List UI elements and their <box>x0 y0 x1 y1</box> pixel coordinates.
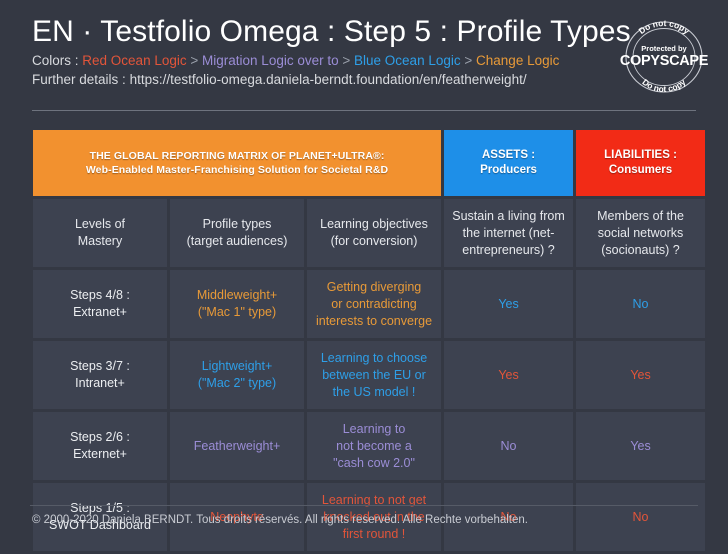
cell-profile-type: Middleweight+ ("Mac 1" type) <box>170 270 304 338</box>
page-title: EN · Testfolio Omega : Step 5 : Profile … <box>32 14 698 50</box>
cell-line3: the US model ! <box>313 384 435 401</box>
cell-line1: Featherweight+ <box>176 438 298 455</box>
banner-liabilities-cell: LIABILITIES : Consumers <box>576 130 705 196</box>
cell-profile-type: Featherweight+ <box>170 412 304 480</box>
cell-line1: Steps 3/7 : <box>39 358 161 375</box>
svg-text:Do not copy: Do not copy <box>640 77 687 94</box>
banner-liabilities-line2: Consumers <box>582 163 699 178</box>
cell-liabilities-answer: No <box>576 270 705 338</box>
copyright-notice: © 2000-2020 Daniela BERNDT. Tous droits … <box>32 514 528 526</box>
legend-separator-2: > <box>342 53 350 68</box>
legend-blue-ocean-logic: Blue Ocean Logic <box>354 53 461 68</box>
cell-level-of-mastery: Steps 4/8 : Extranet+ <box>33 270 167 338</box>
column-header-line3: entrepreneurs) ? <box>450 242 567 259</box>
column-header-line2: (for conversion) <box>313 233 435 250</box>
footer-divider <box>30 505 698 506</box>
cell-line2: between the EU or <box>313 367 435 384</box>
cell-profile-type: Lightweight+ ("Mac 2" type) <box>170 341 304 409</box>
seal-protected-by-text: Protected by <box>641 44 687 53</box>
seal-brand-text: COPYSCAPE <box>620 53 709 69</box>
cell-liabilities-answer: Yes <box>576 412 705 480</box>
cell-assets-answer: Yes <box>444 341 573 409</box>
column-header-learning-objectives: Learning objectives (for conversion) <box>307 199 441 267</box>
cell-assets-answer: No <box>444 412 573 480</box>
column-header-line1: Members of the <box>582 208 699 225</box>
column-header-levels-of-mastery: Levels of Mastery <box>33 199 167 267</box>
header-divider <box>32 110 696 111</box>
column-header-line2: the internet (net- <box>450 225 567 242</box>
column-header-line1: Levels of <box>39 216 161 233</box>
cell-liabilities-answer: No <box>576 483 705 551</box>
cell-line2: Extranet+ <box>39 304 161 321</box>
column-header-line1: Learning objectives <box>313 216 435 233</box>
legend-separator-3: > <box>464 53 472 68</box>
cell-line2: Intranet+ <box>39 375 161 392</box>
table-header-row: Levels of Mastery Profile types (target … <box>33 199 705 267</box>
copyscape-seal: Do not copy Do not copy Protected by COP… <box>618 18 710 96</box>
banner-assets-line2: Producers <box>450 163 567 178</box>
cell-line3: "cash cow 2.0" <box>313 455 435 472</box>
column-header-line1: Sustain a living from <box>450 208 567 225</box>
cell-line1: Learning to choose <box>313 350 435 367</box>
copyscape-seal-icon: Do not copy Do not copy Protected by COP… <box>618 18 710 96</box>
cell-line1: Lightweight+ <box>176 358 298 375</box>
legend-separator-1: > <box>190 53 198 68</box>
slide-header: EN · Testfolio Omega : Step 5 : Profile … <box>0 0 728 106</box>
cell-liabilities-answer: Yes <box>576 341 705 409</box>
table-row: Steps 4/8 : Extranet+ Middleweight+ ("Ma… <box>33 270 705 338</box>
banner-assets-line1: ASSETS : <box>450 148 567 163</box>
cell-line1: Steps 4/8 : <box>39 287 161 304</box>
banner-main-line2: Web-Enabled Master-Franchising Solution … <box>39 163 435 177</box>
further-details-label: Further details : <box>32 72 126 87</box>
banner-liabilities-line1: LIABILITIES : <box>582 148 699 163</box>
cell-line2: not become a <box>313 438 435 455</box>
banner-main-cell: THE GLOBAL REPORTING MATRIX OF PLANET+UL… <box>33 130 441 196</box>
column-header-line2: (target audiences) <box>176 233 298 250</box>
cell-line2: Externet+ <box>39 446 161 463</box>
colors-legend-label: Colors : <box>32 53 79 68</box>
column-header-line2: Mastery <box>39 233 161 250</box>
cell-line2: ("Mac 1" type) <box>176 304 298 321</box>
further-details-line: Further details : https://testfolio-omeg… <box>32 70 698 89</box>
cell-learning-objective: Learning to choose between the EU or the… <box>307 341 441 409</box>
table-row: Steps 3/7 : Intranet+ Lightweight+ ("Mac… <box>33 341 705 409</box>
cell-learning-objective: Learning to not become a "cash cow 2.0" <box>307 412 441 480</box>
slide-root: { "header": { "title": "EN · Testfolio O… <box>0 0 728 546</box>
table-banner-row: THE GLOBAL REPORTING MATRIX OF PLANET+UL… <box>33 130 705 196</box>
column-header-assets-question: Sustain a living from the internet (net-… <box>444 199 573 267</box>
banner-main-line1: THE GLOBAL REPORTING MATRIX OF PLANET+UL… <box>39 149 435 163</box>
legend-migration-logic: Migration Logic over to <box>202 53 339 68</box>
column-header-liabilities-question: Members of the social networks (socionau… <box>576 199 705 267</box>
cell-assets-answer: Yes <box>444 270 573 338</box>
cell-level-of-mastery: Steps 3/7 : Intranet+ <box>33 341 167 409</box>
cell-line2: or contradicting <box>313 296 435 313</box>
cell-line1: Learning to <box>313 421 435 438</box>
legend-red-ocean-logic: Red Ocean Logic <box>82 53 186 68</box>
column-header-profile-types: Profile types (target audiences) <box>170 199 304 267</box>
svg-text:Do not copy: Do not copy <box>637 18 692 36</box>
column-header-line1: Profile types <box>176 216 298 233</box>
cell-level-of-mastery: Steps 2/6 : Externet+ <box>33 412 167 480</box>
cell-line3: first round ! <box>313 526 435 543</box>
column-header-line3: (socionauts) ? <box>582 242 699 259</box>
further-details-url[interactable]: https://testfolio-omega.daniela-berndt.f… <box>130 72 527 87</box>
cell-learning-objective: Getting diverging or contradicting inter… <box>307 270 441 338</box>
reporting-matrix-table: THE GLOBAL REPORTING MATRIX OF PLANET+UL… <box>30 127 708 554</box>
cell-line1: Middleweight+ <box>176 287 298 304</box>
seal-top-arc-text: Do not copy <box>637 18 692 36</box>
column-header-line2: social networks <box>582 225 699 242</box>
seal-bottom-arc-text: Do not copy <box>640 77 687 94</box>
table-row: Steps 2/6 : Externet+ Featherweight+ Lea… <box>33 412 705 480</box>
cell-line3: interests to converge <box>313 313 435 330</box>
cell-line1: Steps 2/6 : <box>39 429 161 446</box>
colors-legend: Colors : Red Ocean Logic > Migration Log… <box>32 51 698 70</box>
banner-assets-cell: ASSETS : Producers <box>444 130 573 196</box>
cell-line1: Getting diverging <box>313 279 435 296</box>
cell-line2: ("Mac 2" type) <box>176 375 298 392</box>
legend-change-logic: Change Logic <box>476 53 559 68</box>
